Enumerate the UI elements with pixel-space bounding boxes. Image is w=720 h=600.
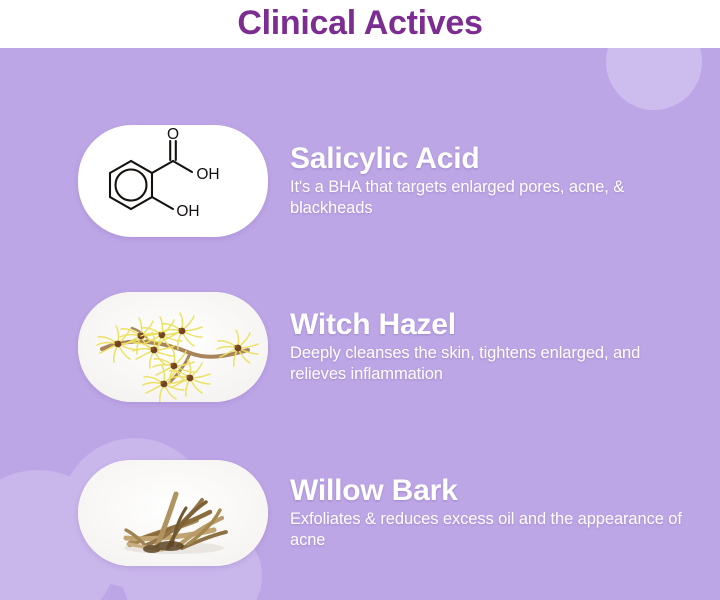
ingredient-description: It's a BHA that targets enlarged pores, … bbox=[290, 177, 696, 219]
ingredient-image-card bbox=[78, 292, 268, 402]
ingredient-name: Salicylic Acid bbox=[290, 143, 696, 174]
clinical-actives-infographic: Clinical Actives bbox=[0, 0, 720, 600]
willow-bark-strips-photo bbox=[78, 460, 268, 566]
ingredient-row-salicylic-acid: O OH OH Salicylic Acid It's a BHA that t… bbox=[0, 125, 720, 237]
salicylic-acid-molecule-icon: O OH OH bbox=[78, 125, 268, 237]
ingredient-text-column: Willow Bark Exfoliates & reduces excess … bbox=[290, 475, 720, 551]
ingredient-description: Deeply cleanses the skin, tightens enlar… bbox=[290, 343, 696, 385]
ingredient-text-column: Witch Hazel Deeply cleanses the skin, ti… bbox=[290, 309, 720, 385]
ingredient-image-card bbox=[78, 460, 268, 566]
ingredient-text-column: Salicylic Acid It's a BHA that targets e… bbox=[290, 143, 720, 219]
label-carbonyl-oxygen: O bbox=[167, 126, 179, 143]
witch-hazel-branch-photo bbox=[78, 292, 268, 402]
label-phenol-hydroxyl: OH bbox=[176, 203, 199, 220]
ingredient-row-witch-hazel: Witch Hazel Deeply cleanses the skin, ti… bbox=[0, 292, 720, 402]
ingredient-image-card: O OH OH bbox=[78, 125, 268, 237]
ingredient-name: Willow Bark bbox=[290, 475, 696, 506]
ingredient-name: Witch Hazel bbox=[290, 309, 696, 340]
label-carboxyl-hydroxyl: OH bbox=[196, 166, 219, 183]
page-title: Clinical Actives bbox=[0, 0, 720, 48]
ingredient-row-willow-bark: Willow Bark Exfoliates & reduces excess … bbox=[0, 460, 720, 566]
ingredient-description: Exfoliates & reduces excess oil and the … bbox=[290, 509, 696, 551]
